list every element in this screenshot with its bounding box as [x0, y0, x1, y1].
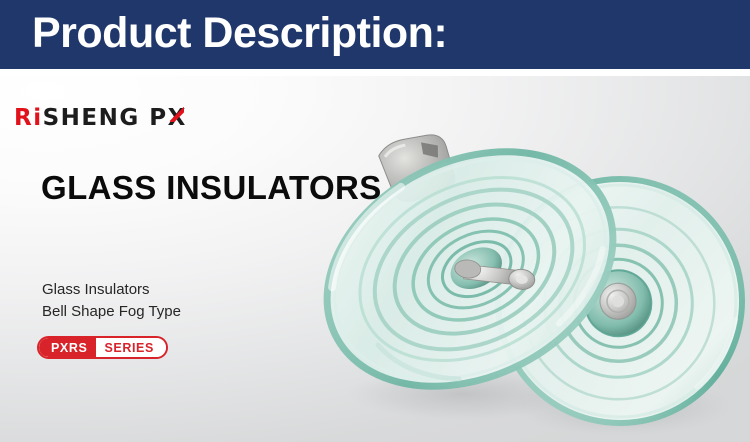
series-badge-word: SERIES	[96, 338, 165, 357]
series-badge-code: PXRS	[39, 338, 96, 357]
header-bar: Product Description:	[0, 0, 750, 69]
page-title: Product Description:	[32, 7, 447, 60]
logo-text-shengp: SHENG P	[43, 105, 168, 131]
subtitle-line-2: Bell Shape Fog Type	[42, 301, 181, 323]
product-description-banner: Product Description: RiSHENG PX GLASS IN…	[0, 0, 750, 442]
brand-logo: RiSHENG PX	[14, 105, 187, 131]
logo-text-ri: Ri	[14, 105, 43, 131]
logo-x-letter: X	[168, 105, 187, 131]
logo-text-x: X	[168, 105, 187, 131]
series-badge: PXRS SERIES	[37, 336, 168, 359]
content-panel: RiSHENG PX GLASS INSULATORS Glass Insula…	[0, 76, 750, 442]
product-subtitle: Glass Insulators Bell Shape Fog Type	[42, 279, 181, 323]
subtitle-line-1: Glass Insulators	[42, 279, 181, 301]
product-image-glass-insulators	[322, 76, 750, 442]
